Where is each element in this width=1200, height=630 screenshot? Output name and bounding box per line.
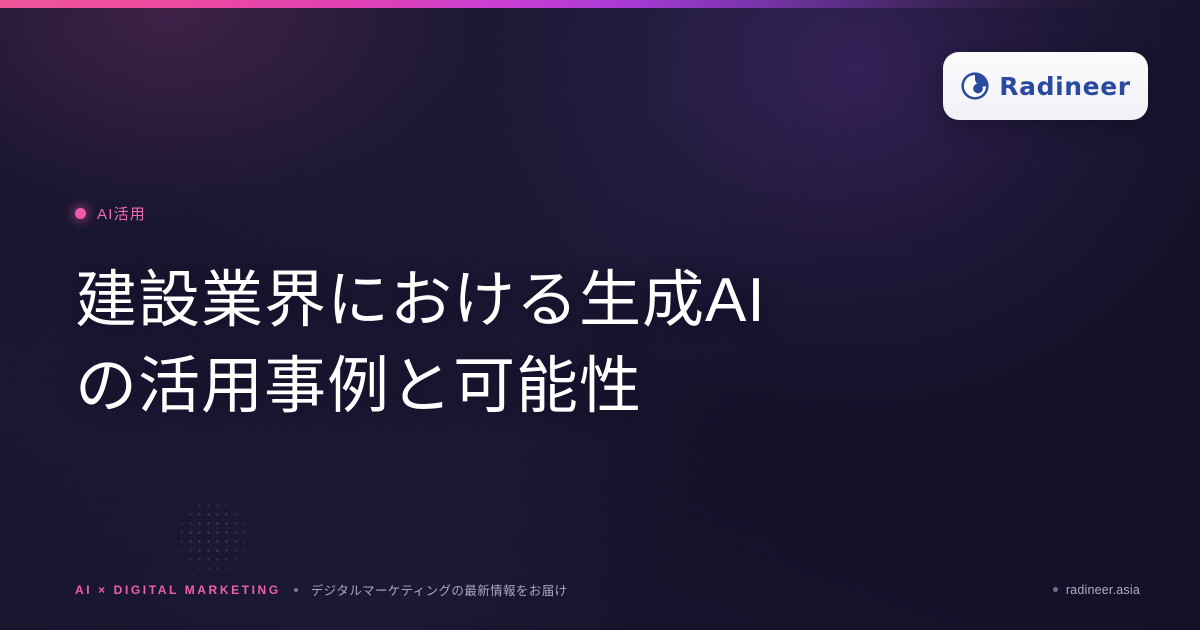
category-dot-icon bbox=[75, 208, 86, 219]
brand-logo-badge[interactable]: Radineer bbox=[943, 52, 1148, 120]
footer-bar: AI × DIGITAL MARKETING デジタルマーケティングの最新情報を… bbox=[75, 580, 1140, 599]
headline-line-2: の活用事例と可能性 bbox=[75, 344, 915, 430]
footer-site-url: radineer.asia bbox=[1066, 583, 1140, 597]
page-title: 建設業界における生成AI の活用事例と可能性 bbox=[75, 258, 915, 429]
footer-tagline: AI × DIGITAL MARKETING bbox=[75, 583, 281, 597]
pink-corner-glow-decoration bbox=[0, 0, 480, 220]
footer-site-link[interactable]: radineer.asia bbox=[1053, 583, 1140, 597]
footer-left-group: AI × DIGITAL MARKETING デジタルマーケティングの最新情報を… bbox=[75, 580, 568, 599]
headline-line-1: 建設業界における生成AI bbox=[75, 258, 915, 344]
category-label: AI活用 bbox=[97, 203, 146, 224]
site-bullet-icon bbox=[1053, 587, 1058, 592]
radineer-swirl-logo-icon bbox=[960, 71, 990, 101]
category-badge[interactable]: AI活用 bbox=[75, 203, 146, 224]
brand-logo-text: Radineer bbox=[999, 72, 1130, 101]
bullet-separator-icon bbox=[294, 588, 298, 592]
top-gradient-bar bbox=[0, 0, 1200, 8]
dot-grid-decoration-icon bbox=[168, 492, 256, 580]
og-image-card: Radineer AI活用 建設業界における生成AI の活用事例と可能性 AI … bbox=[0, 0, 1200, 630]
footer-description: デジタルマーケティングの最新情報をお届け bbox=[311, 580, 568, 599]
